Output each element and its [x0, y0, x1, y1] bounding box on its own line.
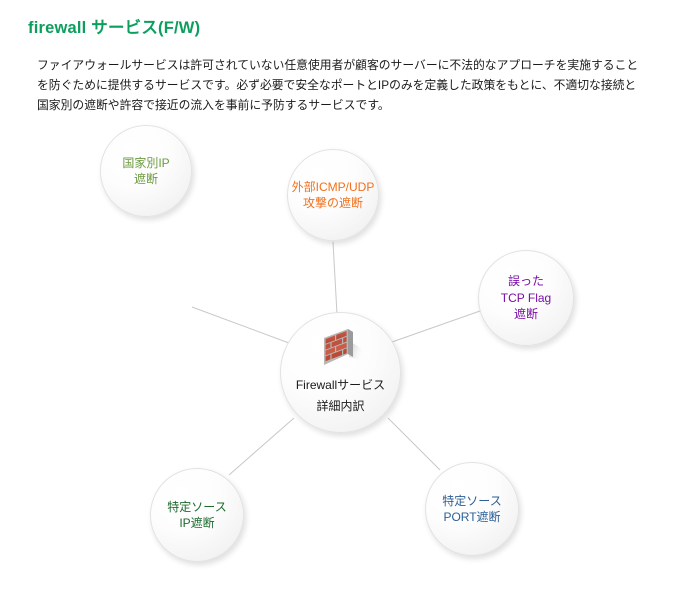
node-label-line2: TCP Flag [501, 290, 551, 307]
node-label-line2: 攻撃の遮断 [303, 195, 363, 212]
node-country-ip-block[interactable]: 国家別IP 遮断 [100, 125, 192, 217]
node-firewall-service-center[interactable]: Firewallサービス 詳細内訳 [280, 312, 401, 433]
firewall-service-diagram: 外部ICMP/UDP 攻撃の遮断 国家別IP 遮断 誤った TCP Flag 遮… [0, 130, 680, 590]
node-specific-source-ip-block[interactable]: 特定ソース IP遮断 [150, 468, 244, 562]
node-label-line2: PORT遮断 [443, 509, 500, 526]
service-description: ファイアウォールサービスは許可されていない任意使用者が顧客のサーバーに不法的なア… [37, 55, 647, 115]
center-label-line1: Firewallサービス [296, 377, 385, 394]
node-external-icmp-udp-block[interactable]: 外部ICMP/UDP 攻撃の遮断 [287, 149, 379, 241]
edge-center-to-lower-left [229, 418, 294, 475]
node-label-line2: 遮断 [134, 171, 158, 188]
node-label-line1: 特定ソース [442, 493, 501, 510]
page-title: firewall サービス(F/W) [28, 14, 200, 38]
node-label-line1: 誤った [508, 273, 544, 290]
edge-center-to-upper-right [392, 311, 480, 342]
node-label-line1: 特定ソース [167, 499, 226, 516]
brick-wall-firewall-icon [315, 327, 367, 373]
center-label-line2: 詳細内訳 [316, 398, 364, 415]
node-invalid-tcp-flag-block[interactable]: 誤った TCP Flag 遮断 [478, 250, 574, 346]
edge-center-to-upper-left [192, 307, 289, 343]
edge-center-to-top [333, 242, 337, 314]
node-label-line2: IP遮断 [179, 515, 214, 532]
node-label-line1: 外部ICMP/UDP [292, 179, 375, 196]
node-label-line3: 遮断 [514, 306, 538, 323]
node-specific-source-port-block[interactable]: 特定ソース PORT遮断 [425, 462, 519, 556]
node-label-line1: 国家別IP [122, 155, 169, 172]
edge-center-to-lower-right [388, 418, 440, 470]
